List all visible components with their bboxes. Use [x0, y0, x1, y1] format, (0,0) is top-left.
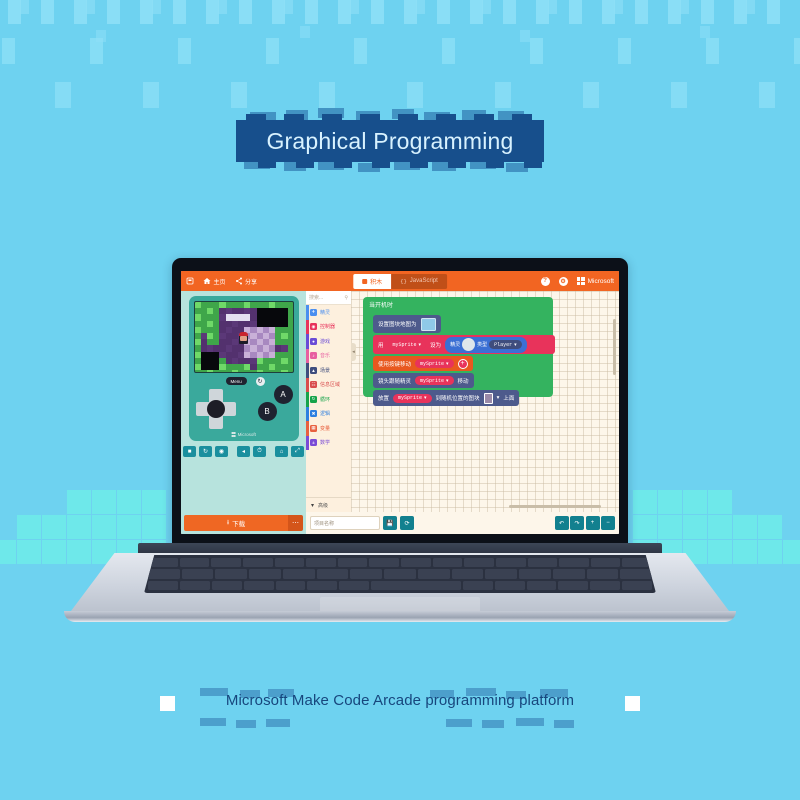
controller-icon: ◉: [310, 323, 317, 330]
keyboard-key: [182, 569, 214, 578]
player-avatar-icon[interactable]: [462, 338, 475, 351]
badge-tooth: [258, 161, 276, 168]
redo-icon[interactable]: ↷: [570, 516, 584, 530]
pixel-block: [41, 0, 54, 24]
toolbar-share-label: 分享: [245, 277, 257, 286]
toolbox-category-label: 循环: [320, 396, 330, 403]
badge-tooth: [246, 114, 266, 121]
pixel-block: [55, 82, 71, 108]
toolbox-category-label: 信息区域: [320, 381, 340, 388]
pixel-block: [178, 38, 191, 64]
block-on-start-label: 当开机时: [363, 297, 553, 312]
keyboard-key: [553, 569, 585, 578]
keyboard-key: [244, 581, 274, 590]
toolbox-category-0[interactable]: ✈精灵: [306, 305, 351, 320]
tile-swatch-icon[interactable]: [484, 393, 493, 404]
simulator-panel: Menu ↻ A B Microsoft: [181, 291, 306, 512]
keyboard-key: [148, 581, 178, 590]
pixel-block: [482, 0, 491, 14]
arcade-simulator: Menu ↻ A B Microsoft: [189, 296, 299, 441]
laptop-base: [0, 543, 800, 635]
download-icon: ⭳: [227, 518, 229, 529]
pixel-block: [2, 38, 15, 64]
keyboard-key: [369, 558, 399, 567]
download-label: 下载: [232, 518, 245, 528]
badge-tooth: [398, 114, 418, 121]
badge-tooth: [524, 161, 542, 168]
tab-blocks[interactable]: 积木: [353, 274, 391, 289]
toolbox-category-7[interactable]: ✖逻辑: [306, 407, 351, 422]
block-camera-suffix: 移动: [458, 377, 469, 385]
pixel-block: [569, 0, 582, 24]
keyboard-key: [496, 558, 526, 567]
kind-dropdown[interactable]: Player ▾: [489, 340, 522, 349]
pixel-block: [680, 0, 689, 14]
keyboard-key: [527, 581, 557, 590]
keyboard-key: [212, 581, 242, 590]
pixel-block: [354, 38, 367, 64]
game-icon: ●: [310, 338, 317, 345]
toolbox-advanced-toggle[interactable]: ▾ 高级: [306, 497, 351, 512]
keyboard-row: [148, 558, 652, 567]
badge-tooth: [448, 161, 466, 168]
keyboard-key: [307, 581, 337, 590]
home-icon: [203, 277, 211, 285]
plus-circle-icon[interactable]: +: [458, 359, 468, 369]
pixel-block: [548, 0, 557, 14]
laptop-keyboard: [144, 555, 656, 593]
variable-mysprite-move[interactable]: mySprite ▾: [415, 359, 454, 368]
player-sprite: [239, 332, 248, 344]
pixel-block: [107, 0, 120, 24]
pixel-block: [671, 82, 687, 108]
makecode-body: Menu ↻ A B Microsoft: [181, 291, 619, 512]
caption-ghost-block: [200, 718, 226, 726]
block-move-label: 使用按键移动: [378, 360, 411, 368]
pixel-block: [767, 0, 780, 24]
keyboard-key: [620, 569, 652, 578]
keyboard-key: [519, 569, 551, 578]
download-zone: ⭳ 下载 ⋯: [181, 512, 306, 534]
toolbox-category-label: 控制器: [320, 323, 335, 330]
pixel-block: [305, 0, 318, 24]
makecode-toolbar: 主页 分享 积木 {} J: [181, 271, 619, 291]
keyboard-key: [180, 581, 210, 590]
sim-button-a[interactable]: A: [274, 385, 293, 404]
pixel-block: [706, 38, 719, 64]
badge-tooth: [284, 114, 304, 121]
chevron-down-icon[interactable]: ▾: [497, 395, 500, 401]
block-sprite-of-kind[interactable]: 精灵 类型 Player ▾: [445, 337, 527, 353]
block-set-tilemap[interactable]: 设置图块地图为: [373, 315, 441, 333]
blocks-icon: [362, 279, 367, 284]
toolbox-category-6[interactable]: ↻循环: [306, 392, 351, 407]
badge-tooth: [474, 114, 494, 121]
pixel-block: [759, 82, 775, 108]
block-camera-label: 镜头跟随精灵: [378, 377, 411, 385]
keyboard-key: [148, 569, 180, 578]
pixel-block: [284, 0, 293, 14]
keyboard-key: [180, 558, 210, 567]
keyboard-key: [591, 558, 621, 567]
pixel-block: [371, 0, 384, 24]
keyboard-key: [306, 558, 336, 567]
keyboard-key: [148, 558, 178, 567]
pixel-block: [218, 0, 227, 14]
keyboard-key: [452, 569, 484, 578]
keyboard-key: [211, 558, 241, 567]
makecode-bottom-bar: ⭳ 下载 ⋯ 项目名称 💾 ⟳ ↶ ↷ + −: [181, 512, 619, 534]
dpad-icon[interactable]: [196, 389, 236, 429]
pixel-block: [152, 0, 161, 14]
toolbox-category-label: 变量: [320, 425, 330, 432]
caption-ghost-block: [516, 718, 544, 726]
block-place-label: 放置: [378, 394, 389, 402]
keyboard-key: [485, 569, 517, 578]
caption-text: Microsoft Make Code Arcade programming p…: [226, 692, 574, 709]
project-name-input[interactable]: 项目名称: [310, 516, 380, 530]
keyboard-key: [283, 569, 315, 578]
pixel-block: [96, 30, 106, 42]
info-icon: ☷: [310, 381, 317, 388]
bottom-bar-right: 项目名称 💾 ⟳ ↶ ↷ + −: [306, 512, 619, 534]
toolbox-category-3[interactable]: ♪音乐: [306, 349, 351, 364]
tab-javascript[interactable]: {} JavaScript: [391, 274, 447, 289]
block-let-sprite[interactable]: 用 mySprite ▾ 设为 精灵 类型 Player ▾: [373, 335, 555, 354]
pixel-block: [530, 38, 543, 64]
logic-icon: ✖: [310, 410, 317, 417]
pixel-block: [520, 30, 530, 42]
simulator-toolbar: ■ ↻ ◉ ◂ ⏱ ⌂ ⤢: [183, 446, 304, 457]
keyboard-key: [215, 569, 247, 578]
toolbox-category-label: 数学: [320, 439, 330, 446]
keyboard-key: [558, 581, 588, 590]
badge-tooth: [322, 114, 342, 121]
laptop-mockup: 主页 分享 积木 {} J: [0, 240, 800, 650]
fullscreen-button[interactable]: ⤢: [291, 446, 304, 457]
variables-icon: ▦: [310, 425, 317, 432]
sprite-icon: ✈: [310, 309, 317, 316]
toolbox-category-2[interactable]: ●游戏: [306, 334, 351, 349]
tab-javascript-label: JavaScript: [410, 278, 438, 284]
keyboard-key: [317, 569, 349, 578]
toolbox-category-label: 精灵: [320, 309, 330, 316]
badge-tooth: [372, 161, 390, 168]
toolbox-advanced-label: 高级: [318, 502, 328, 509]
sim-button-b[interactable]: B: [258, 402, 277, 421]
braces-icon: {}: [400, 278, 407, 285]
keyboard-key: [339, 581, 369, 590]
pixel-block: [20, 0, 29, 14]
pixel-block: [495, 82, 511, 108]
badge-tooth: [360, 114, 380, 121]
badge-tooth: [410, 161, 428, 168]
block-let-keyword: 用: [378, 341, 384, 349]
stop-button[interactable]: ■: [183, 446, 196, 457]
screenshot-button[interactable]: ⌂: [275, 446, 288, 457]
keyboard-key: [371, 581, 461, 590]
pixel-block: [618, 38, 631, 64]
undo-icon[interactable]: ↶: [555, 516, 569, 530]
mute-button[interactable]: ◂: [237, 446, 250, 457]
makecode-logo-icon[interactable]: [186, 277, 194, 285]
laptop-screen: 主页 分享 积木 {} J: [181, 271, 619, 534]
toolbox-category-list: ✈精灵◉控制器●游戏♪音乐▲场景☷信息区域↻循环✖逻辑▦变量±数学: [306, 305, 351, 497]
badge-tooth: [512, 114, 532, 121]
badge-tooth: [436, 114, 456, 121]
pixel-block: [746, 0, 755, 14]
pixel-block: [700, 26, 710, 38]
variable-mysprite[interactable]: mySprite ▾: [388, 340, 427, 349]
keyboard-key: [338, 558, 368, 567]
gear-icon[interactable]: ⚙: [559, 277, 568, 286]
zoom-out-icon[interactable]: −: [601, 516, 615, 530]
toolbox-category-label: 音乐: [320, 352, 330, 359]
debug-button[interactable]: ◉: [215, 446, 228, 457]
block-camera-follow[interactable]: 镜头跟随精灵 mySprite ▾ 移动: [373, 373, 474, 388]
keyboard-key: [276, 581, 306, 590]
toolbox-category-8[interactable]: ▦变量: [306, 421, 351, 436]
caption-ghost-block: [446, 719, 472, 727]
save-icon[interactable]: 💾: [383, 516, 397, 530]
caption-ghost-block: [482, 720, 504, 728]
pixel-block: [231, 82, 247, 108]
pixel-block: [86, 0, 95, 14]
pixel-block: [635, 0, 648, 24]
share-circle-icon[interactable]: ⟳: [400, 516, 414, 530]
game-preview-screen[interactable]: [194, 301, 294, 373]
tab-blocks-label: 积木: [370, 277, 382, 286]
simulator-controls: Menu ↻ A B Microsoft: [194, 376, 294, 436]
caption: Microsoft Make Code Arcade programming p…: [0, 692, 800, 710]
keyboard-key: [464, 558, 494, 567]
keyboard-key: [528, 558, 558, 567]
microsoft-brand: Microsoft: [577, 277, 614, 285]
game-tile: [288, 370, 294, 373]
keyboard-key: [590, 581, 620, 590]
help-icon[interactable]: ?: [541, 277, 550, 286]
ellipsis-icon[interactable]: ⋯: [288, 515, 303, 531]
tilemap-thumbnail-icon[interactable]: [421, 318, 436, 331]
caption-ghost-block: [236, 720, 256, 728]
blocks-toolbox: 搜索... ⚲ ✈精灵◉控制器●游戏♪音乐▲场景☷信息区域↻循环✖逻辑▦变量±数…: [306, 291, 351, 512]
keyboard-key: [463, 581, 493, 590]
pixel-block: [300, 26, 310, 38]
pixel-block: [350, 0, 359, 14]
block-place-on-tile[interactable]: 放置 mySprite ▾ 到随机位置的图块 ▾ 上面: [373, 390, 519, 406]
keyboard-row: [148, 581, 652, 590]
laptop-lid: 主页 分享 积木 {} J: [172, 258, 628, 550]
variable-mysprite-place[interactable]: mySprite ▾: [393, 394, 432, 403]
badge-tooth: [486, 161, 504, 168]
page-title: Graphical Programming: [266, 128, 513, 155]
pixel-block: [143, 82, 159, 108]
toolbox-category-4[interactable]: ▲场景: [306, 363, 351, 378]
download-button[interactable]: ⭳ 下载: [184, 515, 288, 531]
laptop-front-lip: [64, 611, 736, 622]
pixel-block: [794, 38, 800, 64]
keyboard-key: [418, 569, 450, 578]
pixel-block: [442, 38, 455, 64]
microsoft-logo-icon: [577, 277, 585, 285]
pixel-block: [437, 0, 450, 24]
block-set-to-label: 设为: [430, 341, 441, 349]
toolbox-category-label: 逻辑: [320, 410, 330, 417]
toolbox-category-9[interactable]: ±数学: [306, 436, 351, 451]
toolbox-category-1[interactable]: ◉控制器: [306, 320, 351, 335]
keyboard-key: [249, 569, 281, 578]
simulator-brand-label: Microsoft: [238, 432, 256, 437]
math-icon: ±: [310, 439, 317, 446]
refresh-icon[interactable]: ↻: [256, 377, 265, 386]
chevron-down-icon: ▾: [311, 502, 314, 509]
simulator-brand: Microsoft: [231, 432, 256, 437]
pixel-block: [503, 0, 516, 24]
microsoft-brand-label: Microsoft: [588, 278, 614, 285]
toolbar-share-button[interactable]: 分享: [235, 277, 258, 286]
keyboard-key: [587, 569, 619, 578]
laptop-body: [68, 553, 732, 615]
workspace-scrollbar-vertical[interactable]: [613, 319, 616, 375]
keyboard-key: [243, 558, 273, 567]
music-icon: ♪: [310, 352, 317, 359]
keyboard-key: [384, 569, 416, 578]
loops-icon: ↻: [310, 396, 317, 403]
toolbox-category-label: 游戏: [320, 338, 330, 345]
sim-menu-button[interactable]: Menu: [226, 377, 247, 385]
keyboard-key: [275, 558, 305, 567]
hero-title-badge: Graphical Programming: [236, 120, 544, 162]
pixel-block: [416, 0, 425, 14]
keyboard-key: [622, 558, 652, 567]
share-icon: [235, 277, 243, 285]
scene-icon: ▲: [310, 367, 317, 374]
block-place-suffix: 上面: [503, 394, 514, 402]
blocks-workspace[interactable]: ◂ 当开机时 设置图块地图为 用 mySprite ▾ 设为: [351, 291, 619, 512]
variable-mysprite-camera[interactable]: mySprite ▾: [415, 376, 454, 385]
search-input[interactable]: 搜索...: [309, 294, 342, 301]
pixel-block: [614, 0, 623, 14]
toolbox-search[interactable]: 搜索... ⚲: [306, 291, 351, 305]
pixel-block: [266, 38, 279, 64]
pixel-block: [583, 82, 599, 108]
keyboard-key: [495, 581, 525, 590]
badge-tooth: [334, 161, 352, 168]
chevron-left-icon[interactable]: ◂: [351, 343, 356, 361]
editor-tab-group: 积木 {} JavaScript: [353, 274, 447, 289]
block-place-mid: 到随机位置的图块: [436, 394, 480, 402]
keyboard-row: [148, 569, 652, 578]
block-set-tilemap-label: 设置图块地图为: [378, 320, 417, 328]
slow-motion-button[interactable]: ⏱: [253, 446, 266, 457]
workspace-scrollbar-horizontal[interactable]: [509, 505, 601, 508]
pixel-block: [701, 0, 714, 24]
keyboard-key: [559, 558, 589, 567]
microsoft-logo-icon: [231, 432, 236, 437]
zoom-in-icon[interactable]: +: [586, 516, 600, 530]
keyboard-key: [401, 558, 431, 567]
keyboard-key: [350, 569, 382, 578]
restart-button[interactable]: ↻: [199, 446, 212, 457]
pixel-block: [239, 0, 252, 24]
keyboard-key: [622, 581, 652, 590]
pixel-block: [173, 0, 186, 24]
search-icon: ⚲: [344, 295, 348, 301]
toolbox-category-label: 场景: [320, 367, 330, 374]
keyboard-key: [433, 558, 463, 567]
toolbar-home-button[interactable]: 主页: [203, 277, 226, 286]
badge-tooth: [296, 161, 314, 168]
caption-ghost-block: [266, 719, 290, 727]
toolbox-category-5[interactable]: ☷信息区域: [306, 378, 351, 393]
pixel-block: [319, 82, 335, 108]
toolbar-home-label: 主页: [214, 277, 226, 286]
block-move-with-buttons[interactable]: 使用按键移动 mySprite ▾ +: [373, 356, 473, 371]
block-on-start[interactable]: 当开机时 设置图块地图为 用 mySprite ▾ 设为 精灵: [363, 297, 553, 397]
caption-ghost-block: [554, 720, 574, 728]
pixel-block: [407, 82, 423, 108]
